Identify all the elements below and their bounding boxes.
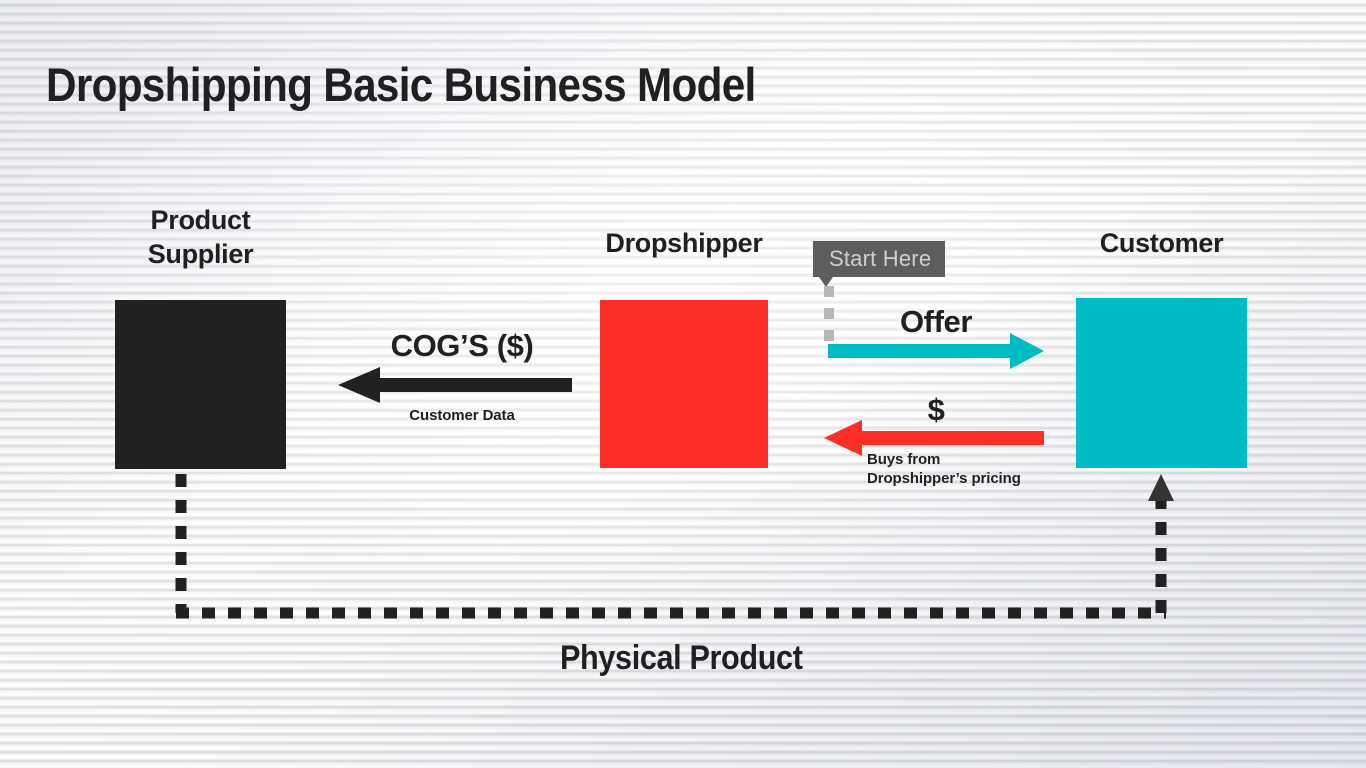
slide-canvas: Dropshipping Basic Business Model Produc… [0,0,1366,768]
flow-label-physical-product: Physical Product [560,639,803,678]
